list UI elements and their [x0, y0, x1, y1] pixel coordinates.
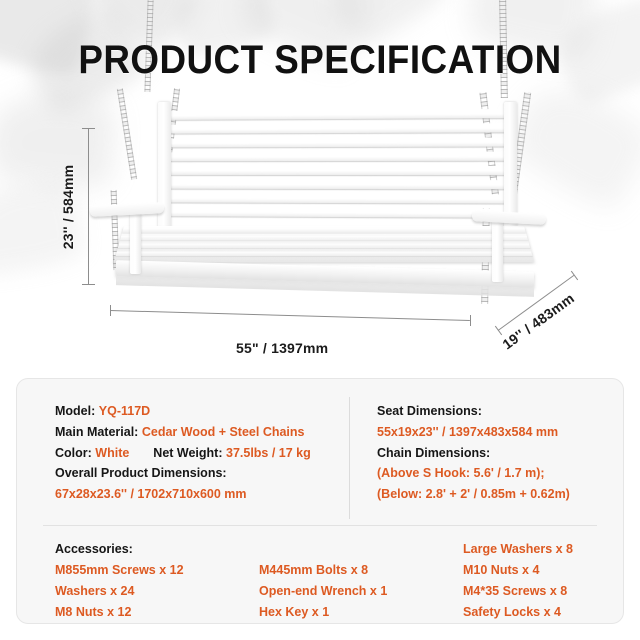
- spec-left-column: Model: YQ-117D Main Material: Cedar Wood…: [55, 401, 345, 505]
- accessory-item: Open-end Wrench x 1: [259, 581, 387, 602]
- spec-value: YQ-117D: [99, 404, 150, 418]
- spec-row-overall-value: 67x28x23.6'' / 1702x710x600 mm: [55, 484, 345, 505]
- accessory-item: M8 Nuts x 12: [55, 602, 184, 623]
- spec-value: (Above S Hook: 5.6' / 1.7 m);: [377, 466, 545, 480]
- swing-arm-post-left: [130, 212, 141, 274]
- spec-row-model: Model: YQ-117D: [55, 401, 345, 422]
- spec-row-seat-heading: Seat Dimensions:: [377, 401, 617, 422]
- accessory-item: Washers x 24: [55, 581, 184, 602]
- swing-arm-post-right: [492, 220, 503, 282]
- accessory-item: M445mm Bolts x 8: [259, 560, 387, 581]
- accessories-column-2: M445mm Bolts x 8 Open-end Wrench x 1 Hex…: [259, 539, 387, 623]
- spec-label-secondary: Net Weight:: [153, 446, 222, 460]
- spec-label: Color:: [55, 446, 92, 460]
- accessory-item: M10 Nuts x 4: [463, 560, 573, 581]
- spec-label: Model:: [55, 404, 95, 418]
- card-vertical-divider: [349, 397, 350, 519]
- width-dimension-cap-left: [110, 305, 111, 316]
- spec-value: (Below: 2.8' + 2' / 0.85m + 0.62m): [377, 487, 570, 501]
- swing-seat: [114, 226, 535, 262]
- spec-row-color-weight: Color: White Net Weight: 37.5lbs / 17 kg: [55, 443, 345, 464]
- swing-backrest: [165, 107, 514, 237]
- accessory-item: M4*35 Screws x 8: [463, 581, 573, 602]
- spec-label: Chain Dimensions:: [377, 446, 490, 460]
- accessories-column-3: Large Washers x 8 M10 Nuts x 4 M4*35 Scr…: [463, 539, 573, 623]
- spec-value: Cedar Wood + Steel Chains: [142, 425, 305, 439]
- height-dimension-line: [88, 128, 89, 284]
- spec-value: 55x19x23'' / 1397x483x584 mm: [377, 425, 558, 439]
- spec-row-seat-value: 55x19x23'' / 1397x483x584 mm: [377, 422, 617, 443]
- spec-value: 67x28x23.6'' / 1702x710x600 mm: [55, 487, 247, 501]
- spec-row-overall-heading: Overall Product Dimensions:: [55, 463, 345, 484]
- product-specification-page: 23'' / 584mm 55" / 1397mm 19'' / 483mm P…: [0, 0, 640, 640]
- swing-back-post-left: [158, 102, 171, 244]
- accessory-item: Large Washers x 8: [463, 539, 573, 560]
- card-horizontal-divider: [43, 525, 597, 526]
- product-hero: 23'' / 584mm 55" / 1397mm 19'' / 483mm P…: [0, 0, 640, 372]
- spec-row-chain-heading: Chain Dimensions:: [377, 443, 617, 464]
- accessories-column-1: Accessories: M855mm Screws x 12 Washers …: [55, 539, 184, 623]
- spec-label: Seat Dimensions:: [377, 404, 482, 418]
- specification-card: Model: YQ-117D Main Material: Cedar Wood…: [16, 378, 624, 624]
- accessory-item: Safety Locks x 4: [463, 602, 573, 623]
- accessory-item: Hex Key x 1: [259, 602, 387, 623]
- spec-value-secondary: 37.5lbs / 17 kg: [226, 446, 311, 460]
- spec-row-material: Main Material: Cedar Wood + Steel Chains: [55, 422, 345, 443]
- spec-row-chain-below: (Below: 2.8' + 2' / 0.85m + 0.62m): [377, 484, 617, 505]
- width-dimension-label: 55" / 1397mm: [236, 340, 328, 356]
- height-dimension-label: 23'' / 584mm: [60, 152, 76, 262]
- width-dimension-cap-right: [470, 315, 471, 326]
- page-title: PRODUCT SPECIFICATION: [26, 40, 615, 80]
- height-dimension-cap-bottom: [82, 284, 95, 285]
- swing-armrest-left: [90, 202, 164, 217]
- height-dimension-cap-top: [82, 128, 95, 129]
- spec-label: Main Material:: [55, 425, 138, 439]
- spec-label: Overall Product Dimensions:: [55, 466, 227, 480]
- accessory-item: M855mm Screws x 12: [55, 560, 184, 581]
- spec-row-chain-above: (Above S Hook: 5.6' / 1.7 m);: [377, 463, 617, 484]
- porch-swing-illustration: [100, 108, 530, 320]
- spec-value: White: [95, 446, 129, 460]
- spec-right-column: Seat Dimensions: 55x19x23'' / 1397x483x5…: [377, 401, 617, 505]
- accessories-heading: Accessories:: [55, 539, 184, 560]
